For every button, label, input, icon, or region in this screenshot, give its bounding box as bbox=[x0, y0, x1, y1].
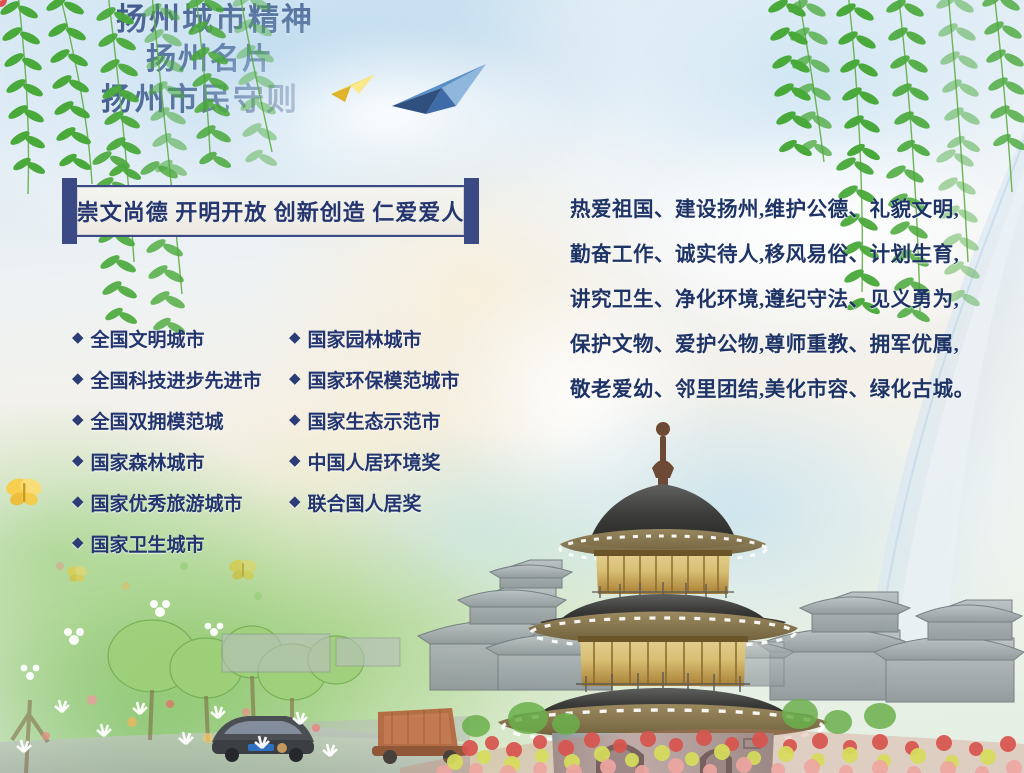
blue-wash-lower bbox=[520, 380, 940, 640]
list-item-label: 中国人居环境奖 bbox=[308, 448, 441, 475]
spirit-banner: 崇文尚德 开明开放 创新创造 仁爱爱人 bbox=[62, 178, 479, 244]
butterfly-icon bbox=[4, 476, 44, 508]
poster-canvas: 扬州城市精神 崇文尚德 开明开放 创新创造 仁爱爱人 扬州名片 ◆ 全国文明城市… bbox=[0, 0, 1024, 773]
diamond-bullet-icon: ◆ bbox=[289, 331, 301, 346]
list-item-label: 全国文明城市 bbox=[91, 325, 205, 352]
list-item-label: 国家园林城市 bbox=[308, 325, 422, 352]
cards-list: ◆ 全国文明城市 ◆ 全国科技进步先进市 ◆ 全国双拥模范城 ◆ 国家森林城市 … bbox=[72, 318, 492, 564]
rule-line: 保护文物、爱护公物,尊师重教、拥军优属, bbox=[570, 323, 982, 368]
page-title-rules: 扬州市民守则 bbox=[0, 80, 400, 120]
diamond-bullet-icon: ◆ bbox=[289, 454, 301, 469]
list-item: ◆ 国家环保模范城市 bbox=[289, 359, 489, 400]
list-item: ◆ 国家园林城市 bbox=[289, 318, 489, 359]
meadow-wash-2 bbox=[0, 600, 380, 773]
diamond-bullet-icon: ◆ bbox=[72, 413, 84, 428]
diamond-bullet-icon: ◆ bbox=[72, 495, 84, 510]
diamond-bullet-icon: ◆ bbox=[72, 454, 84, 469]
list-item: ◆ 国家优秀旅游城市 bbox=[72, 482, 277, 523]
diamond-bullet-icon: ◆ bbox=[289, 495, 301, 510]
list-item: ◆ 联合国人居奖 bbox=[289, 482, 489, 523]
rule-line: 敬老爱幼、邻里团结,美化市容、绿化古城。 bbox=[570, 368, 982, 413]
banner-cap-right bbox=[464, 178, 479, 244]
list-item-label: 全国双拥模范城 bbox=[91, 407, 224, 434]
list-item: ◆ 国家卫生城市 bbox=[72, 523, 277, 564]
diamond-bullet-icon: ◆ bbox=[289, 413, 301, 428]
list-item-label: 国家环保模范城市 bbox=[308, 366, 460, 393]
banner-text: 崇文尚德 开明开放 创新创造 仁爱爱人 bbox=[77, 195, 465, 227]
sky-wash-right bbox=[544, 0, 1024, 220]
diamond-bullet-icon: ◆ bbox=[72, 331, 84, 346]
rule-line: 热爱祖国、建设扬州,维护公德、礼貌文明, bbox=[570, 188, 982, 233]
diamond-bullet-icon: ◆ bbox=[289, 372, 301, 387]
list-item-label: 联合国人居奖 bbox=[308, 489, 422, 516]
page-title-cards: 扬州名片 bbox=[0, 40, 420, 80]
list-item: ◆ 国家森林城市 bbox=[72, 441, 277, 482]
list-item: ◆ 全国文明城市 bbox=[72, 318, 277, 359]
list-item-label: 国家优秀旅游城市 bbox=[91, 489, 243, 516]
diamond-bullet-icon: ◆ bbox=[72, 372, 84, 387]
list-item-label: 国家卫生城市 bbox=[91, 530, 205, 557]
list-item: ◆ 全国双拥模范城 bbox=[72, 400, 277, 441]
list-item: ◆ 全国科技进步先进市 bbox=[72, 359, 277, 400]
list-item: ◆ 国家生态示范市 bbox=[289, 400, 489, 441]
list-item-label: 国家森林城市 bbox=[91, 448, 205, 475]
list-item: ◆ 中国人居环境奖 bbox=[289, 441, 489, 482]
rule-line: 讲究卫生、净化环境,遵纪守法、见义勇为, bbox=[570, 278, 982, 323]
butterfly-icon bbox=[66, 565, 88, 583]
cards-column-right: ◆ 国家园林城市 ◆ 国家环保模范城市 ◆ 国家生态示范市 ◆ 中国人居环境奖 … bbox=[289, 318, 489, 564]
list-item-label: 全国科技进步先进市 bbox=[91, 366, 262, 393]
banner-panel: 崇文尚德 开明开放 创新创造 仁爱爱人 bbox=[77, 187, 464, 235]
list-item-label: 国家生态示范市 bbox=[308, 407, 441, 434]
cards-column-left: ◆ 全国文明城市 ◆ 全国科技进步先进市 ◆ 全国双拥模范城 ◆ 国家森林城市 … bbox=[72, 318, 277, 564]
banner-cap-left bbox=[62, 178, 77, 244]
page-title-spirit: 扬州城市精神 bbox=[0, 0, 430, 40]
diamond-bullet-icon: ◆ bbox=[72, 536, 84, 551]
rule-line: 勤奋工作、诚实待人,移风易俗、计划生育, bbox=[570, 233, 982, 278]
rules-text-block: 热爱祖国、建设扬州,维护公德、礼貌文明, 勤奋工作、诚实待人,移风易俗、计划生育… bbox=[570, 188, 982, 413]
